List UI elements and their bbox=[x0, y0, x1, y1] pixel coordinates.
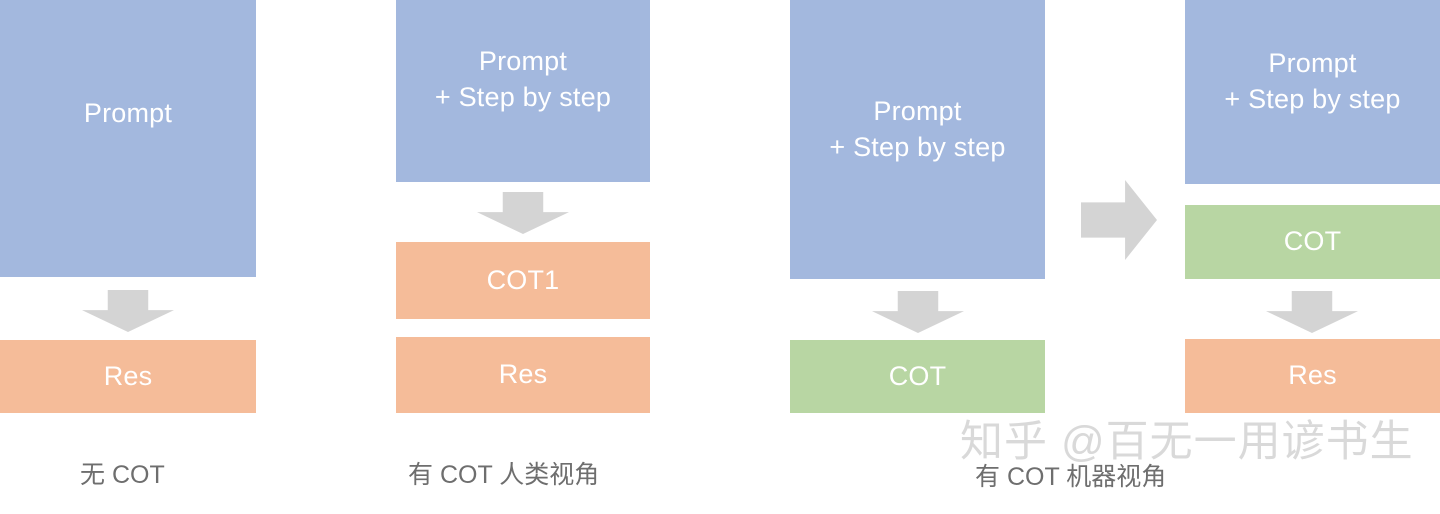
node-cot-machine-prompt-step: Prompt + Step by step bbox=[790, 0, 1045, 279]
node-cot-machine-cot: COT bbox=[790, 340, 1045, 413]
node-cot-human-res: Res bbox=[396, 337, 650, 413]
node-cot-human-cot1: COT1 bbox=[396, 242, 650, 319]
arrow-down-icon-no-cot-prompt-to-res bbox=[82, 290, 174, 332]
zhihu-watermark: 知乎 @百无一用谚书生 bbox=[960, 421, 1414, 464]
caption-no-cot: 无 COT bbox=[80, 463, 165, 488]
cot-comparison-diagram: Prompt Res 无 COT Prompt + Step by step C… bbox=[0, 0, 1440, 514]
arrow-down-icon-cot-human-prompt-to-cot1 bbox=[477, 192, 569, 234]
arrow-down-icon-cot-machine-prompt-to-cot bbox=[872, 291, 964, 333]
caption-cot-human-view: 有 COT 人类视角 bbox=[408, 463, 599, 488]
node-cot-human-prompt-step: Prompt + Step by step bbox=[396, 0, 650, 182]
node-cot-machine2-prompt-step: Prompt + Step by step bbox=[1185, 0, 1440, 184]
node-cot-machine2-cot: COT bbox=[1185, 205, 1440, 279]
node-cot-machine2-res: Res bbox=[1185, 339, 1440, 413]
arrow-down-icon-cot-machine2-cot-to-res bbox=[1266, 291, 1358, 333]
caption-cot-machine-view: 有 COT 机器视角 bbox=[975, 465, 1166, 490]
arrow-right-icon-stage-transition bbox=[1081, 180, 1157, 260]
node-no-cot-res: Res bbox=[0, 340, 256, 413]
node-no-cot-prompt: Prompt bbox=[0, 0, 256, 277]
